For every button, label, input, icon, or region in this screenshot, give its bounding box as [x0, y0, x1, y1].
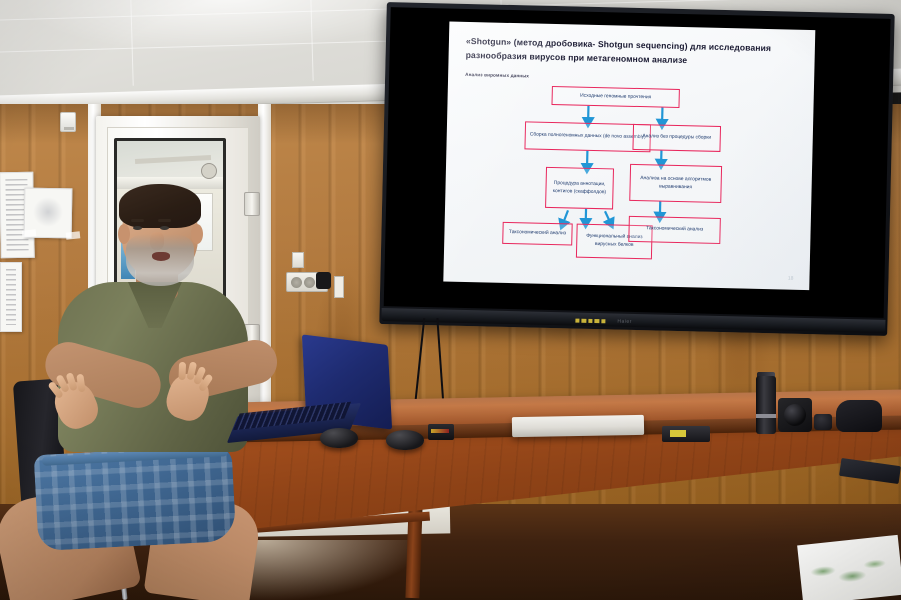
flow-node-source-reads: Исходные геномные прочтения	[551, 86, 679, 108]
wall-switch-right[interactable]	[334, 276, 344, 298]
tv-brand-logo: Haier	[617, 319, 632, 325]
presenter-left-eye	[133, 226, 142, 230]
slide-page-number: 18	[788, 276, 794, 282]
lens-cap[interactable]	[814, 414, 832, 430]
presentation-slide: «Shotgun» (метод дробовика- Shotgun sequ…	[443, 22, 815, 291]
mouse-right[interactable]	[386, 430, 424, 450]
door-hinge-upper	[244, 192, 260, 216]
presenter-right-ear	[191, 224, 203, 244]
black-pouch[interactable]	[836, 400, 882, 432]
wall-mounted-display[interactable]: «Shotgun» (метод дробовика- Shotgun sequ…	[379, 2, 894, 336]
presentation-room-photo: «Shotgun» (метод дробовика- Shotgun sequ…	[0, 0, 901, 600]
mouse-left[interactable]	[320, 428, 358, 448]
white-laptop-closed[interactable]	[512, 415, 644, 437]
tv-led-indicators	[575, 319, 605, 324]
white-leaf-print-item	[797, 535, 901, 600]
wall-clock-icon	[201, 163, 217, 179]
presenter-left-brow	[131, 219, 144, 222]
presenter-right-eye	[160, 226, 169, 230]
power-plug	[316, 272, 331, 289]
presenter-mouth	[152, 252, 170, 261]
flow-node-no-assembly: Анализ без процедуры сборки	[632, 124, 721, 152]
wall-switch[interactable]	[292, 252, 304, 268]
camera-lens	[784, 404, 806, 426]
wall-sensor	[60, 112, 76, 132]
presenter-right-brow	[158, 219, 171, 222]
paper-sheet-lined-lower	[0, 262, 22, 332]
paper-text-lines-2	[6, 269, 16, 325]
usb-dongle[interactable]	[428, 424, 454, 440]
flow-node-taxonomic-left: Таксономический анализ	[502, 222, 572, 246]
monocular-telescope[interactable]	[756, 376, 776, 434]
adapter-label	[670, 430, 686, 437]
flow-node-taxonomic-right: Таксономический анализ	[628, 216, 721, 244]
flow-node-alignment-analysis: Анализа на основе алгоритмов выравнивани…	[629, 164, 722, 203]
flow-node-annotation: Процедура аннотации, контигов (скаффолдо…	[545, 167, 614, 210]
monocular-focus-ring	[756, 414, 776, 418]
